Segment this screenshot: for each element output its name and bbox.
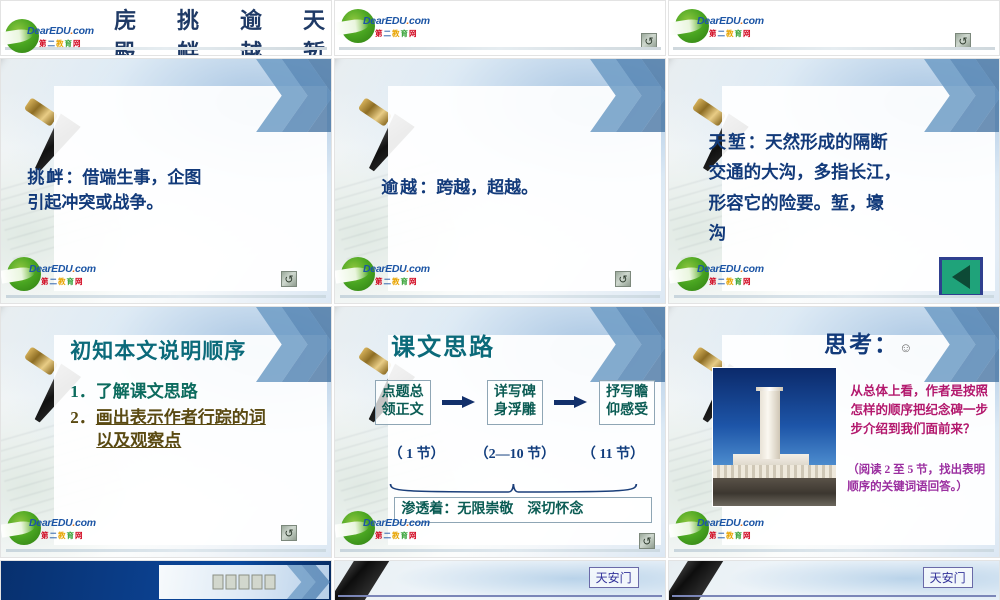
return-arrow-icon[interactable]: ↺ bbox=[281, 271, 297, 287]
bottom-accent-bar bbox=[340, 549, 660, 552]
divider bbox=[338, 595, 661, 597]
slide-partial-slide-tiananmen-1[interactable]: 天安门 bbox=[334, 560, 666, 600]
logo-subtitle: 第二教育网 bbox=[709, 276, 752, 287]
dearedu-logo: DearEDU.com 第二教育网 bbox=[675, 257, 779, 291]
logo-subtitle: 第二教育网 bbox=[41, 276, 84, 287]
definition-colon: ： bbox=[419, 178, 436, 197]
slide-reading-order-slide[interactable]: 初知本文说明顺序 1．了解课文思路 2．画出表示作者行踪的词以及观察点 Dear… bbox=[0, 306, 332, 558]
dearedu-logo: DearEDU.com 第二教育网 bbox=[341, 511, 445, 545]
definition-text: 挑衅：借端生事，企图 引起冲突或战争。 bbox=[27, 166, 317, 215]
chevron-decoration bbox=[924, 59, 999, 132]
definition-term: 逾越 bbox=[381, 178, 419, 197]
chevron-decoration bbox=[590, 307, 665, 382]
dearedu-logo: DearEDU.com 第二教育网 bbox=[675, 511, 779, 545]
logo-subtitle: 第二教育网 bbox=[375, 28, 418, 39]
curly-brace-icon bbox=[388, 482, 639, 494]
logo-subtitle: 第二教育网 bbox=[375, 276, 418, 287]
tiananmen-label: 天安门 bbox=[923, 567, 973, 588]
slide-definition-yuyue-slide[interactable]: 逾越：跨越，超越。 DearEDU.com 第二教育网 ↺ bbox=[334, 58, 666, 304]
slide-canvas: DearEDU.com 第二教育网 ↺ bbox=[669, 1, 999, 55]
return-arrow-icon[interactable]: ↺ bbox=[615, 271, 631, 287]
definition-line-4: 沟 bbox=[709, 223, 727, 243]
content-panel bbox=[159, 565, 329, 599]
logo-wordmark: DearEDU.com bbox=[697, 517, 764, 529]
bottom-accent-bar bbox=[340, 295, 660, 298]
monument-photo bbox=[712, 367, 837, 507]
outline-item-1: 1．了解课文思路 bbox=[70, 377, 198, 402]
divider bbox=[673, 47, 995, 50]
logo-wordmark: DearEDU.com bbox=[29, 263, 96, 275]
definition-line-1: 跨越，超越。 bbox=[436, 178, 538, 197]
logo-wordmark: DearEDU.com bbox=[363, 15, 430, 27]
definition-term: 挑衅 bbox=[27, 168, 65, 187]
slide-partial-slide-tiananmen-2[interactable]: 天安门 bbox=[668, 560, 1000, 600]
slide-canvas: 课文思路 点题总 领正文详写碑 身浮雕抒写瞻 仰感受 （ 1 节）（2—10 节… bbox=[335, 307, 665, 557]
bottom-accent-bar bbox=[674, 549, 994, 552]
section-range-row: （ 1 节）（2—10 节）（ 11 节） bbox=[375, 447, 656, 464]
flow-arrow-icon bbox=[554, 396, 588, 408]
definition-line-1: 借端生事，企图 bbox=[82, 168, 201, 187]
slide-definition-tiaoxin-slide[interactable]: 挑衅：借端生事，企图 引起冲突或战争。 DearEDU.com 第二教育网 ↺ bbox=[0, 58, 332, 304]
dearedu-logo: DearEDU.com 第二教育网 bbox=[5, 19, 109, 53]
slide-definition-tianqian-slide[interactable]: 天堑：天然形成的隔断 交通的大沟，多指长江， 形容它的险要。堑，壕 沟 Dear… bbox=[668, 58, 1000, 304]
divider bbox=[672, 595, 995, 597]
divider bbox=[339, 47, 661, 50]
logo-wordmark: DearEDU.com bbox=[27, 25, 94, 37]
logo-wordmark: DearEDU.com bbox=[697, 15, 764, 27]
section-range-2: （ 11 节） bbox=[571, 447, 655, 464]
chevron-decoration bbox=[287, 565, 331, 599]
bottom-accent-bar bbox=[6, 295, 326, 298]
flow-box-1: 详写碑 身浮雕 bbox=[487, 380, 543, 426]
slide-header-strip-3[interactable]: DearEDU.com 第二教育网 ↺ bbox=[668, 0, 1000, 56]
section-range-1: （2—10 节） bbox=[473, 447, 557, 464]
dearedu-logo: DearEDU.com 第二教育网 bbox=[7, 511, 111, 545]
dearedu-logo: DearEDU.com 第二教育网 bbox=[341, 257, 445, 291]
slide-canvas: 天堑：天然形成的隔断 交通的大沟，多指长江， 形容它的险要。堑，壕 沟 Dear… bbox=[669, 59, 999, 303]
logo-subtitle: 第二教育网 bbox=[709, 28, 752, 39]
flow-box-0: 点题总 领正文 bbox=[375, 380, 431, 426]
slide-vocabulary-menu-slide[interactable]: 庑殿 挑衅 逾越 天堑 DearEDU.com 第二教育网 bbox=[0, 0, 332, 56]
slide-partial-slide-tofu[interactable] bbox=[0, 560, 332, 600]
slide-canvas: 挑衅：借端生事，企图 引起冲突或战争。 DearEDU.com 第二教育网 ↺ bbox=[1, 59, 331, 303]
slide-canvas: 思考：☺ 从总体上看，作者是按照怎样的顺序把纪念碑一步步介绍到我们面前来？ （阅… bbox=[669, 307, 999, 557]
question-note: （阅读 2 至 5 节，找出表明顺序的关键词语回答。） bbox=[847, 462, 989, 495]
definition-line-1: 天然形成的隔断 bbox=[765, 132, 888, 152]
dearedu-logo: DearEDU.com 第二教育网 bbox=[7, 257, 111, 291]
slide-thumbnail-grid: 庑殿 挑衅 逾越 天堑 DearEDU.com 第二教育网 DearEDU.co… bbox=[0, 0, 1000, 600]
slide-canvas: 初知本文说明顺序 1．了解课文思路 2．画出表示作者行踪的词以及观察点 Dear… bbox=[1, 307, 331, 557]
logo-subtitle: 第二教育网 bbox=[709, 530, 752, 541]
flow-arrow-icon bbox=[442, 396, 476, 408]
logo-wordmark: DearEDU.com bbox=[363, 263, 430, 275]
slide-title: 初知本文说明顺序 bbox=[70, 335, 246, 365]
flow-diagram: 点题总 领正文详写碑 身浮雕抒写瞻 仰感受 bbox=[375, 380, 656, 426]
logo-wordmark: DearEDU.com bbox=[363, 517, 430, 529]
return-arrow-icon[interactable]: ↺ bbox=[281, 525, 297, 541]
unrendered-text-glyphs bbox=[213, 575, 276, 590]
slide-title: 思考：☺ bbox=[824, 325, 914, 359]
definition-colon: ： bbox=[65, 168, 82, 187]
section-range-0: （ 1 节） bbox=[375, 447, 459, 464]
bottom-accent-bar bbox=[6, 549, 326, 552]
definition-colon: ： bbox=[748, 132, 766, 152]
definition-text: 逾越：跨越，超越。 bbox=[381, 176, 652, 201]
logo-wordmark: DearEDU.com bbox=[697, 263, 764, 275]
dearedu-logo: DearEDU.com 第二教育网 bbox=[675, 9, 779, 43]
flow-box-2: 抒写瞻 仰感受 bbox=[599, 380, 655, 426]
definition-text: 天堑：天然形成的隔断 交通的大沟，多指长江， 形容它的险要。堑，壕 沟 bbox=[709, 127, 986, 247]
slide-thinking-question-slide[interactable]: 思考：☺ 从总体上看，作者是按照怎样的顺序把纪念碑一步步介绍到我们面前来？ （阅… bbox=[668, 306, 1000, 558]
chevron-decoration bbox=[256, 59, 331, 132]
slide-text-structure-slide[interactable]: 课文思路 点题总 领正文详写碑 身浮雕抒写瞻 仰感受 （ 1 节）（2—10 节… bbox=[334, 306, 666, 558]
slide-canvas: 逾越：跨越，超越。 DearEDU.com 第二教育网 ↺ bbox=[335, 59, 665, 303]
slide-canvas: DearEDU.com 第二教育网 ↺ bbox=[335, 1, 665, 55]
logo-subtitle: 第二教育网 bbox=[41, 530, 84, 541]
outline-item-2: 2．画出表示作者行踪的词以及观察点 bbox=[70, 407, 314, 453]
slide-header-strip-2[interactable]: DearEDU.com 第二教育网 ↺ bbox=[334, 0, 666, 56]
slide-canvas: 庑殿 挑衅 逾越 天堑 DearEDU.com 第二教育网 bbox=[1, 1, 331, 55]
definition-line-3: 形容它的险要。堑，壕 bbox=[709, 193, 884, 213]
smiley-icon: ☺ bbox=[899, 340, 914, 355]
logo-subtitle: 第二教育网 bbox=[39, 38, 82, 49]
tiananmen-label: 天安门 bbox=[589, 567, 639, 588]
logo-subtitle: 第二教育网 bbox=[375, 530, 418, 541]
question-text: 从总体上看，作者是按照怎样的顺序把纪念碑一步步介绍到我们面前来？ bbox=[851, 382, 990, 438]
bottom-accent-bar bbox=[674, 295, 994, 298]
chevron-decoration bbox=[256, 307, 331, 382]
logo-wordmark: DearEDU.com bbox=[29, 517, 96, 529]
definition-term: 天堑 bbox=[709, 132, 748, 152]
definition-line-2: 引起冲突或战争。 bbox=[27, 193, 163, 212]
chevron-decoration bbox=[590, 59, 665, 132]
back-arrow-icon[interactable] bbox=[939, 257, 983, 297]
definition-line-2: 交通的大沟，多指长江， bbox=[709, 162, 902, 182]
dearedu-logo: DearEDU.com 第二教育网 bbox=[341, 9, 445, 43]
return-arrow-icon[interactable]: ↺ bbox=[639, 533, 655, 549]
slide-title: 课文思路 bbox=[391, 327, 495, 362]
chevron-decoration bbox=[924, 307, 999, 382]
